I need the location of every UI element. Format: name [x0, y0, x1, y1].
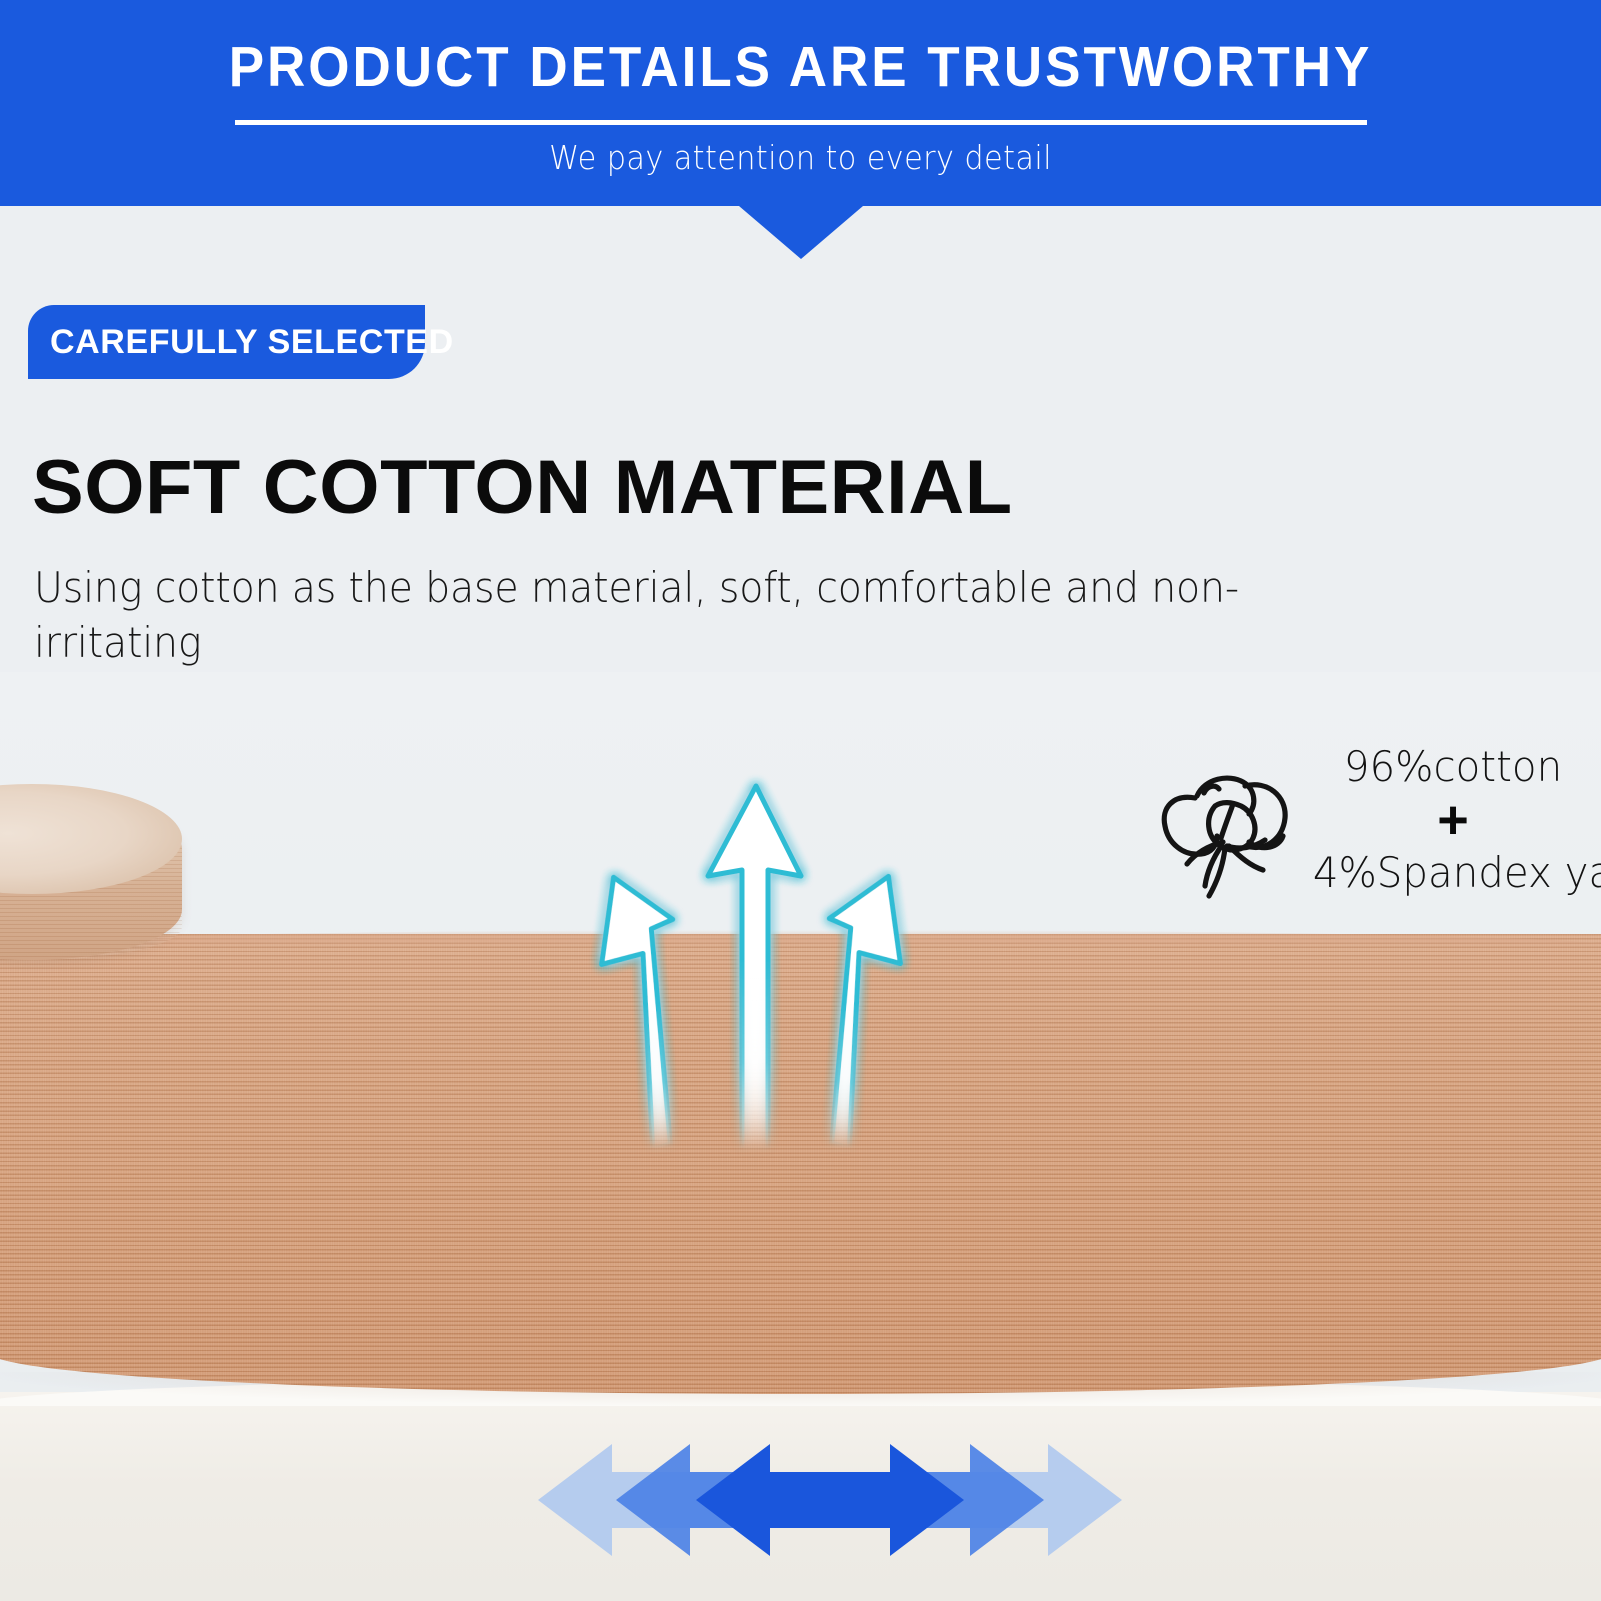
composition-primary: 96%cotton [1313, 742, 1593, 792]
cotton-boll-icon [1145, 746, 1305, 906]
product-detail-infographic: PRODUCT DETAILS ARE TRUSTWORTHY We pay a… [0, 0, 1601, 1601]
down-triangle-pointer-icon [739, 206, 863, 259]
composition-callout: 96%cotton + 4%Spandex yarn [1145, 742, 1601, 932]
feature-heading: SOFT COTTON MATERIAL [32, 446, 1013, 530]
feature-description: Using cotton as the base material, soft,… [34, 560, 1256, 670]
upward-airflow-arrows-icon [560, 754, 960, 1174]
composition-text: 96%cotton + 4%Spandex yarn [1307, 742, 1599, 898]
composition-plus-icon: + [1307, 792, 1599, 848]
status-badge: CAREFULLY SELECTED [28, 305, 425, 379]
bidirectional-stretch-arrows-icon [520, 1430, 1140, 1570]
product-photo: 96%cotton + 4%Spandex yarn [0, 672, 1601, 1601]
header-banner: PRODUCT DETAILS ARE TRUSTWORTHY We pay a… [0, 0, 1601, 206]
composition-secondary: 4%Spandex yarn [1313, 848, 1593, 898]
page-title: PRODUCT DETAILS ARE TRUSTWORTHY [56, 34, 1545, 100]
status-badge-label: CAREFULLY SELECTED [50, 305, 454, 379]
header-subtitle: We pay attention to every detail [64, 136, 1537, 180]
header-divider-rule [235, 120, 1367, 125]
